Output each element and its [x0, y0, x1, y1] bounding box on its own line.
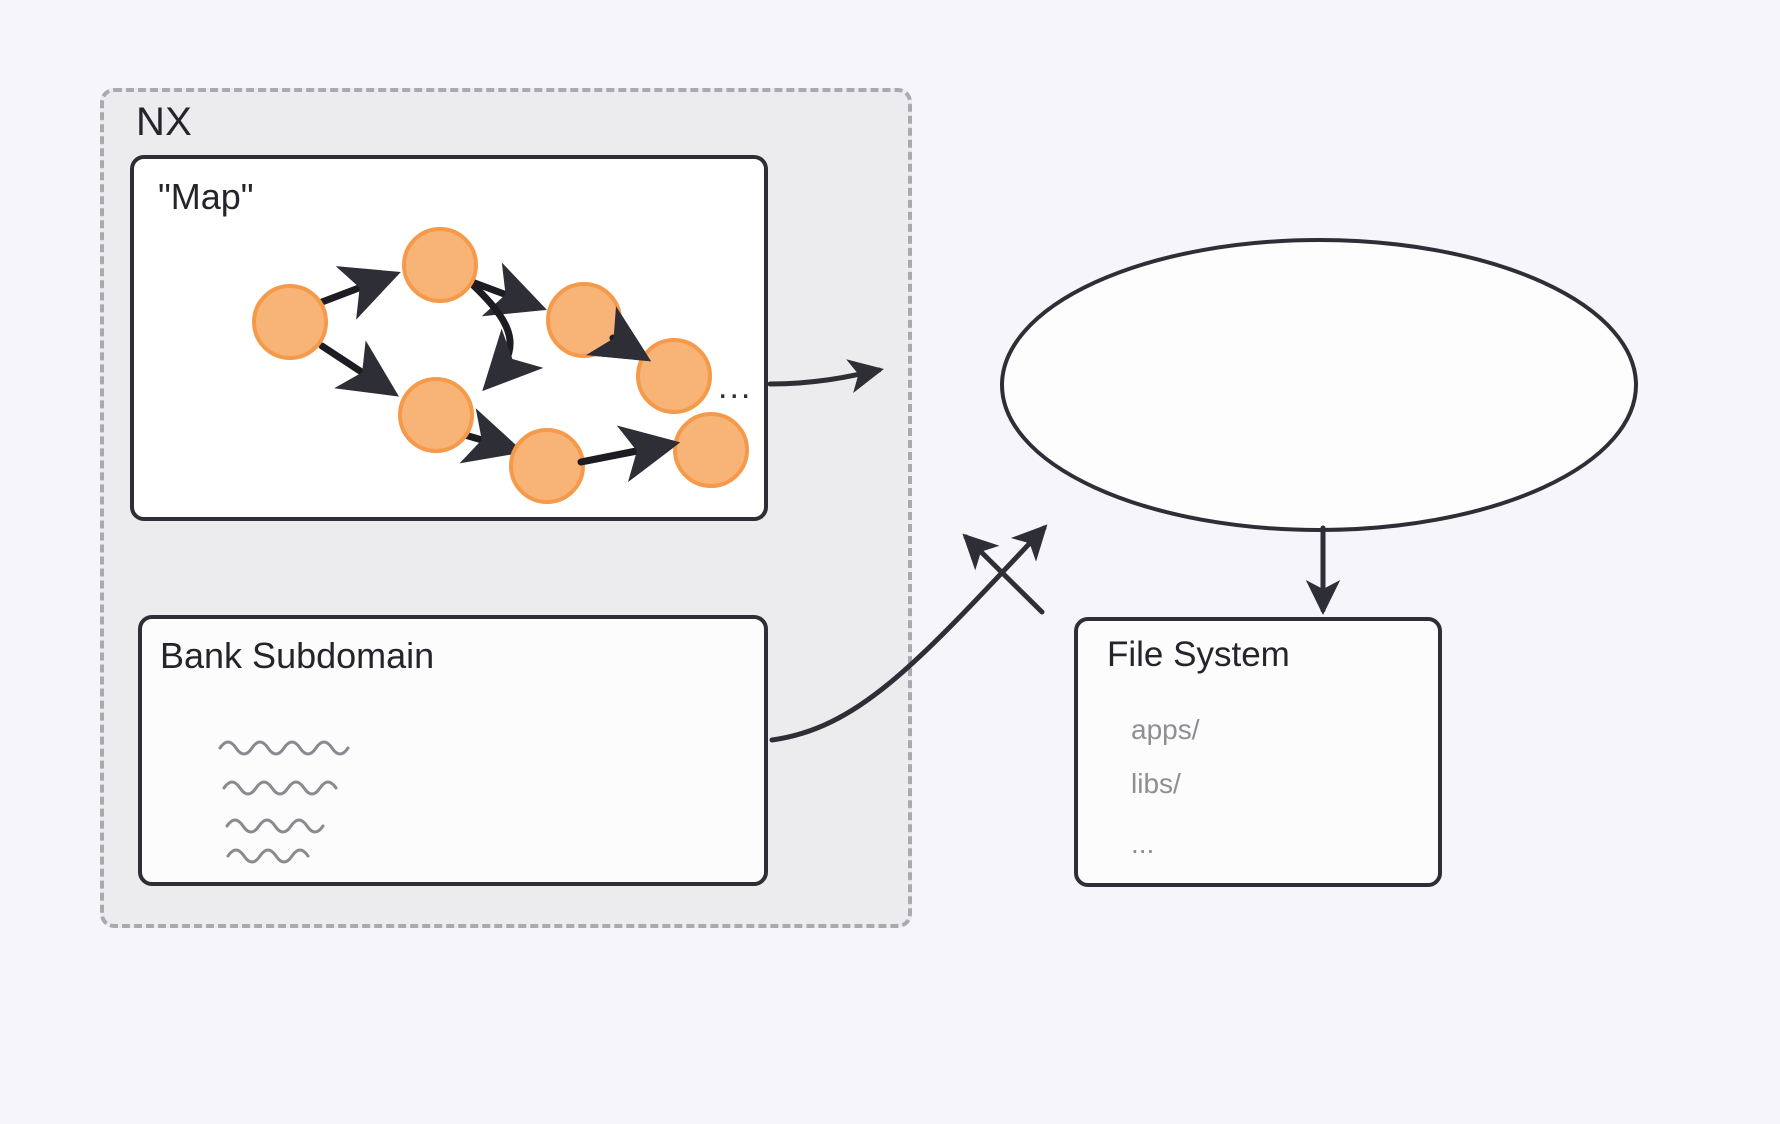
diagram-canvas: NX "Map" ... Bank Subdomain File System … — [0, 0, 1780, 1124]
coding-assistant-ellipse — [1002, 240, 1636, 530]
file-system-title: File System — [1107, 635, 1290, 675]
connector-filesystem-to-assistant — [966, 537, 1042, 612]
file-system-entry: libs/ — [1131, 768, 1181, 800]
bank-subdomain-title: Bank Subdomain — [160, 635, 434, 677]
file-system-entry: ... — [1131, 828, 1154, 860]
map-ellipsis-label: ... — [718, 368, 752, 407]
coding-assistant-label: Coding Assistant — [1002, 325, 1638, 368]
file-system-entry: apps/ — [1131, 714, 1200, 746]
nx-group-label: NX — [136, 100, 192, 145]
map-card-title: "Map" — [158, 176, 254, 218]
